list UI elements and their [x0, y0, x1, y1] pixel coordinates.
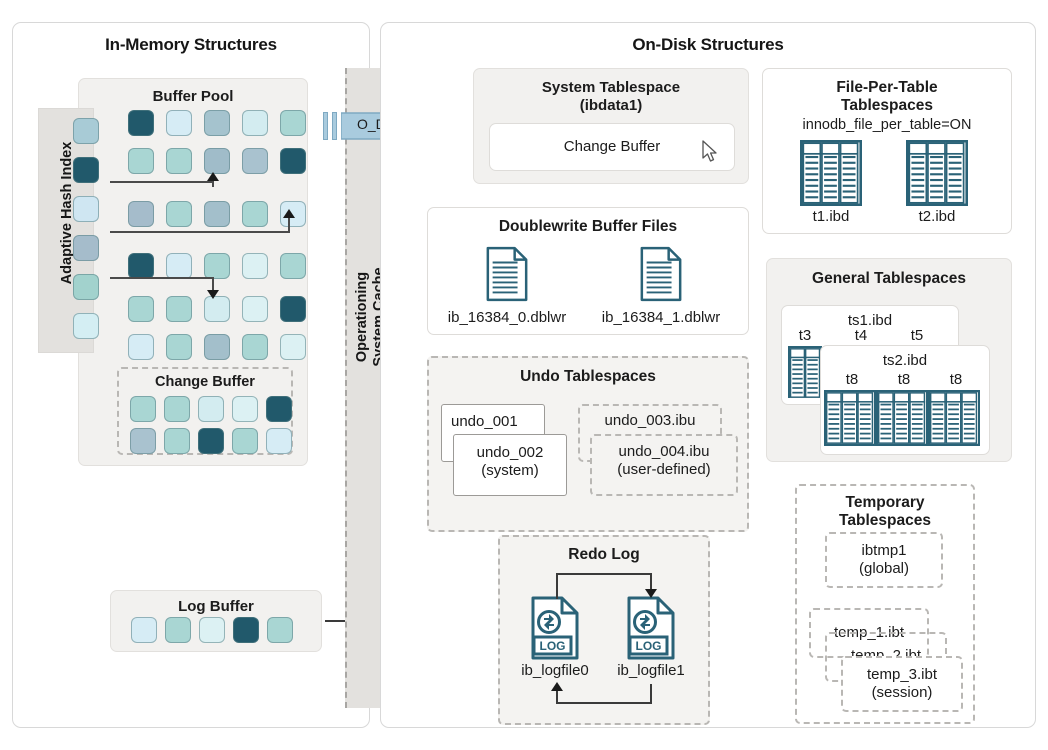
redo-top-arrow-head	[645, 589, 657, 598]
adaptive-hash-index-entry-1	[73, 157, 99, 183]
ts2-table-icon-0	[824, 390, 876, 451]
log-buffer-page-2	[199, 617, 225, 643]
buffer-pool-page-2-0	[128, 201, 154, 227]
ahi-arrow-3-vertical	[212, 277, 214, 291]
o-direct-bar-1	[323, 112, 328, 140]
buffer-pool-page-1-0	[128, 148, 154, 174]
svg-text:LOG: LOG	[636, 639, 662, 653]
redo-bottom-arrow-head	[551, 682, 563, 691]
doublewrite-file-icon-0	[484, 246, 530, 307]
change-buffer-page-1-1	[164, 428, 190, 454]
general-tablespaces-title: General Tablespaces	[767, 270, 1011, 288]
system-tablespace-card: System Tablespace (ibdata1) Change Buffe…	[473, 68, 749, 184]
redo-log-title: Redo Log	[500, 546, 708, 564]
log-buffer-page-1	[165, 617, 191, 643]
undo-004-userdefined-label: (user-defined)	[592, 461, 736, 478]
buffer-pool-page-3-0	[128, 253, 154, 279]
buffer-pool-page-4-2	[204, 296, 230, 322]
buffer-pool-page-0-3	[242, 110, 268, 136]
buffer-pool-page-1-2	[204, 148, 230, 174]
doublewrite-file-label-1: ib_16384_1.dblwr	[585, 309, 737, 326]
in-memory-title: In-Memory Structures	[13, 35, 369, 55]
adaptive-hash-index-entry-2	[73, 196, 99, 222]
system-change-buffer-box: Change Buffer	[489, 123, 735, 171]
ts2-name: ts2.ibd	[821, 352, 989, 369]
buffer-pool-page-5-4	[280, 334, 306, 360]
ts1-table-label-2: t5	[887, 327, 947, 344]
temp-3-box: temp_3.ibt (session)	[841, 656, 963, 712]
redo-log-file-label-1: ib_logfile1	[599, 662, 703, 679]
file-per-table-icon-0	[800, 140, 862, 211]
file-per-table-setting: innodb_file_per_table=ON	[763, 117, 1011, 133]
buffer-pool-page-4-4	[280, 296, 306, 322]
buffer-pool-page-3-4	[280, 253, 306, 279]
redo-top-arrow-line	[556, 573, 652, 575]
undo-001-label: undo_001	[442, 413, 544, 430]
doublewrite-file-icon-1	[638, 246, 684, 307]
redo-bottom-arrow-right-leg	[650, 684, 652, 704]
on-disk-title: On-Disk Structures	[381, 35, 1035, 55]
change-buffer-page-0-4	[266, 396, 292, 422]
buffer-pool-page-3-1	[166, 253, 192, 279]
change-buffer-page-0-3	[232, 396, 258, 422]
undo-002-box: undo_002 (system)	[453, 434, 567, 496]
ahi-arrow-3-head	[207, 290, 219, 299]
buffer-pool-page-2-3	[242, 201, 268, 227]
buffer-pool-page-4-1	[166, 296, 192, 322]
ahi-arrow-1-stem	[212, 180, 214, 187]
file-per-table-label-1: t2.ibd	[887, 208, 987, 225]
temporary-title-line1: Temporary	[797, 494, 973, 512]
change-buffer-page-1-2	[198, 428, 224, 454]
temp-3-session-label: (session)	[843, 684, 961, 701]
buffer-pool-page-0-2	[204, 110, 230, 136]
log-buffer-title: Log Buffer	[111, 598, 321, 615]
ahi-arrow-2-horizontal	[110, 231, 290, 233]
ahi-arrow-3-horizontal	[110, 277, 214, 279]
buffer-pool-page-5-2	[204, 334, 230, 360]
undo-002-system-label: (system)	[454, 462, 566, 479]
ahi-arrow-1-head	[207, 172, 219, 181]
change-buffer-page-0-0	[130, 396, 156, 422]
buffer-pool-page-5-3	[242, 334, 268, 360]
buffer-pool-page-1-4	[280, 148, 306, 174]
adaptive-hash-index-entry-4	[73, 274, 99, 300]
change-buffer-page-0-1	[164, 396, 190, 422]
undo-002-label: undo_002	[454, 444, 566, 461]
system-change-buffer-label: Change Buffer	[490, 138, 734, 155]
redo-bottom-arrow-left-leg	[556, 690, 558, 704]
doublewrite-file-label-0: ib_16384_0.dblwr	[431, 309, 583, 326]
buffer-pool-title: Buffer Pool	[79, 88, 307, 105]
redo-log-file-icon-0: LOG	[528, 596, 582, 665]
ts2-table-icon-2	[928, 390, 980, 451]
undo-004-label: undo_004.ibu	[592, 443, 736, 460]
change-buffer-page-1-4	[266, 428, 292, 454]
ts1-table-label-0: t3	[775, 327, 835, 344]
mouse-cursor	[702, 140, 720, 164]
temp-3-label: temp_3.ibt	[843, 666, 961, 683]
undo-003-label: undo_003.ibu	[580, 412, 720, 429]
change-buffer-page-0-2	[198, 396, 224, 422]
buffer-pool-page-1-1	[166, 148, 192, 174]
log-buffer-page-0	[131, 617, 157, 643]
ts1-table-label-1: t4	[831, 327, 891, 344]
change-buffer-title: Change Buffer	[117, 374, 293, 390]
buffer-pool-page-5-1	[166, 334, 192, 360]
system-tablespace-title-line2: (ibdata1)	[474, 97, 748, 114]
buffer-pool-page-5-0	[128, 334, 154, 360]
log-buffer-page-4	[267, 617, 293, 643]
undo-tablespaces-title: Undo Tablespaces	[429, 368, 747, 386]
buffer-pool-page-4-0	[128, 296, 154, 322]
o-direct-bar-2	[332, 112, 337, 140]
temporary-title-line2: Tablespaces	[797, 512, 973, 530]
ts2-table-label-1: t8	[876, 371, 932, 388]
ts2-table-icon-1	[876, 390, 928, 451]
buffer-pool-page-0-1	[166, 110, 192, 136]
doublewrite-title: Doublewrite Buffer Files	[428, 218, 748, 236]
log-buffer-page-3	[233, 617, 259, 643]
ts2-table-label-2: t8	[928, 371, 984, 388]
adaptive-hash-index-entry-3	[73, 235, 99, 261]
redo-top-arrow-left-leg	[556, 573, 558, 599]
buffer-pool-page-0-0	[128, 110, 154, 136]
file-per-table-icon-1	[906, 140, 968, 211]
redo-bottom-arrow-line	[556, 702, 652, 704]
svg-text:LOG: LOG	[540, 639, 566, 653]
ts2-table-label-0: t8	[824, 371, 880, 388]
buffer-pool-page-1-3	[242, 148, 268, 174]
innodb-architecture-diagram: In-Memory Structures Buffer Pool Change …	[0, 0, 1048, 750]
buffer-pool-page-2-1	[166, 201, 192, 227]
ibtmp1-global-label: (global)	[827, 560, 941, 577]
buffer-pool-page-3-2	[204, 253, 230, 279]
change-buffer-page-1-3	[232, 428, 258, 454]
ts1-table-icon-0	[788, 346, 822, 398]
buffer-pool-page-0-4	[280, 110, 306, 136]
redo-log-file-icon-1: LOG	[624, 596, 678, 665]
system-tablespace-title-line1: System Tablespace	[474, 79, 748, 96]
change-buffer-page-1-0	[130, 428, 156, 454]
adaptive-hash-index-entry-5	[73, 313, 99, 339]
ahi-arrow-2-head	[283, 209, 295, 218]
oscache-label-line1: Operationing	[354, 272, 370, 362]
file-per-table-title-line1: File-Per-Table	[763, 79, 1011, 97]
adaptive-hash-index-entry-0	[73, 118, 99, 144]
file-per-table-label-0: t1.ibd	[781, 208, 881, 225]
ahi-arrow-2-vertical	[288, 218, 290, 233]
redo-log-file-label-0: ib_logfile0	[503, 662, 607, 679]
buffer-pool-page-4-3	[242, 296, 268, 322]
ibtmp1-label: ibtmp1	[827, 542, 941, 559]
undo-004-box: undo_004.ibu (user-defined)	[590, 434, 738, 496]
file-per-table-title-line2: Tablespaces	[763, 97, 1011, 115]
buffer-pool-page-3-3	[242, 253, 268, 279]
ibtmp1-box: ibtmp1 (global)	[825, 532, 943, 588]
ahi-arrow-1-horizontal	[110, 181, 214, 183]
buffer-pool-page-2-2	[204, 201, 230, 227]
